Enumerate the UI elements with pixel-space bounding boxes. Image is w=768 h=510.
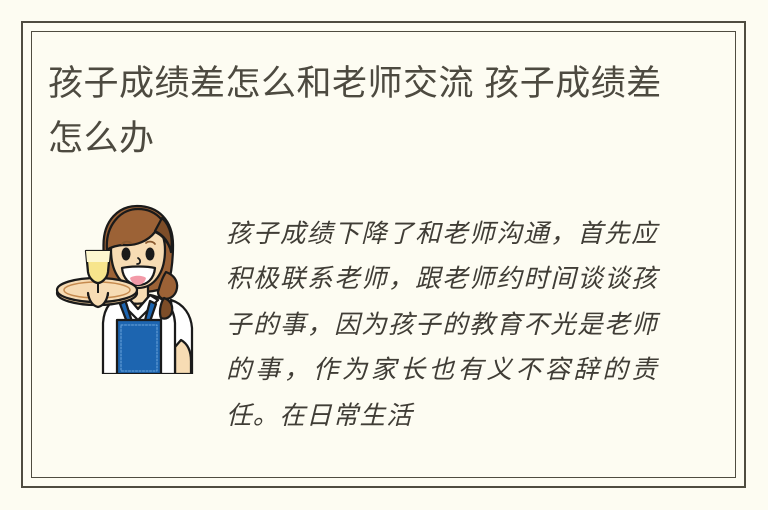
page-title: 孩子成绩差怎么和老师交流 孩子成绩差怎么办 xyxy=(48,56,688,167)
waitress-illustration xyxy=(55,202,205,374)
left-eye xyxy=(122,248,131,261)
article-card: 孩子成绩差怎么和老师交流 孩子成绩差怎么办 xyxy=(0,0,768,510)
braid-tail xyxy=(160,298,172,319)
apron-body xyxy=(117,320,161,374)
glass-bowl-highlight xyxy=(86,251,110,262)
article-body-text: 孩子成绩下降了和老师沟通，首先应积极联系老师，跟老师约时间谈谈孩子的事，因为孩子… xyxy=(226,212,658,439)
right-eye xyxy=(146,248,155,261)
